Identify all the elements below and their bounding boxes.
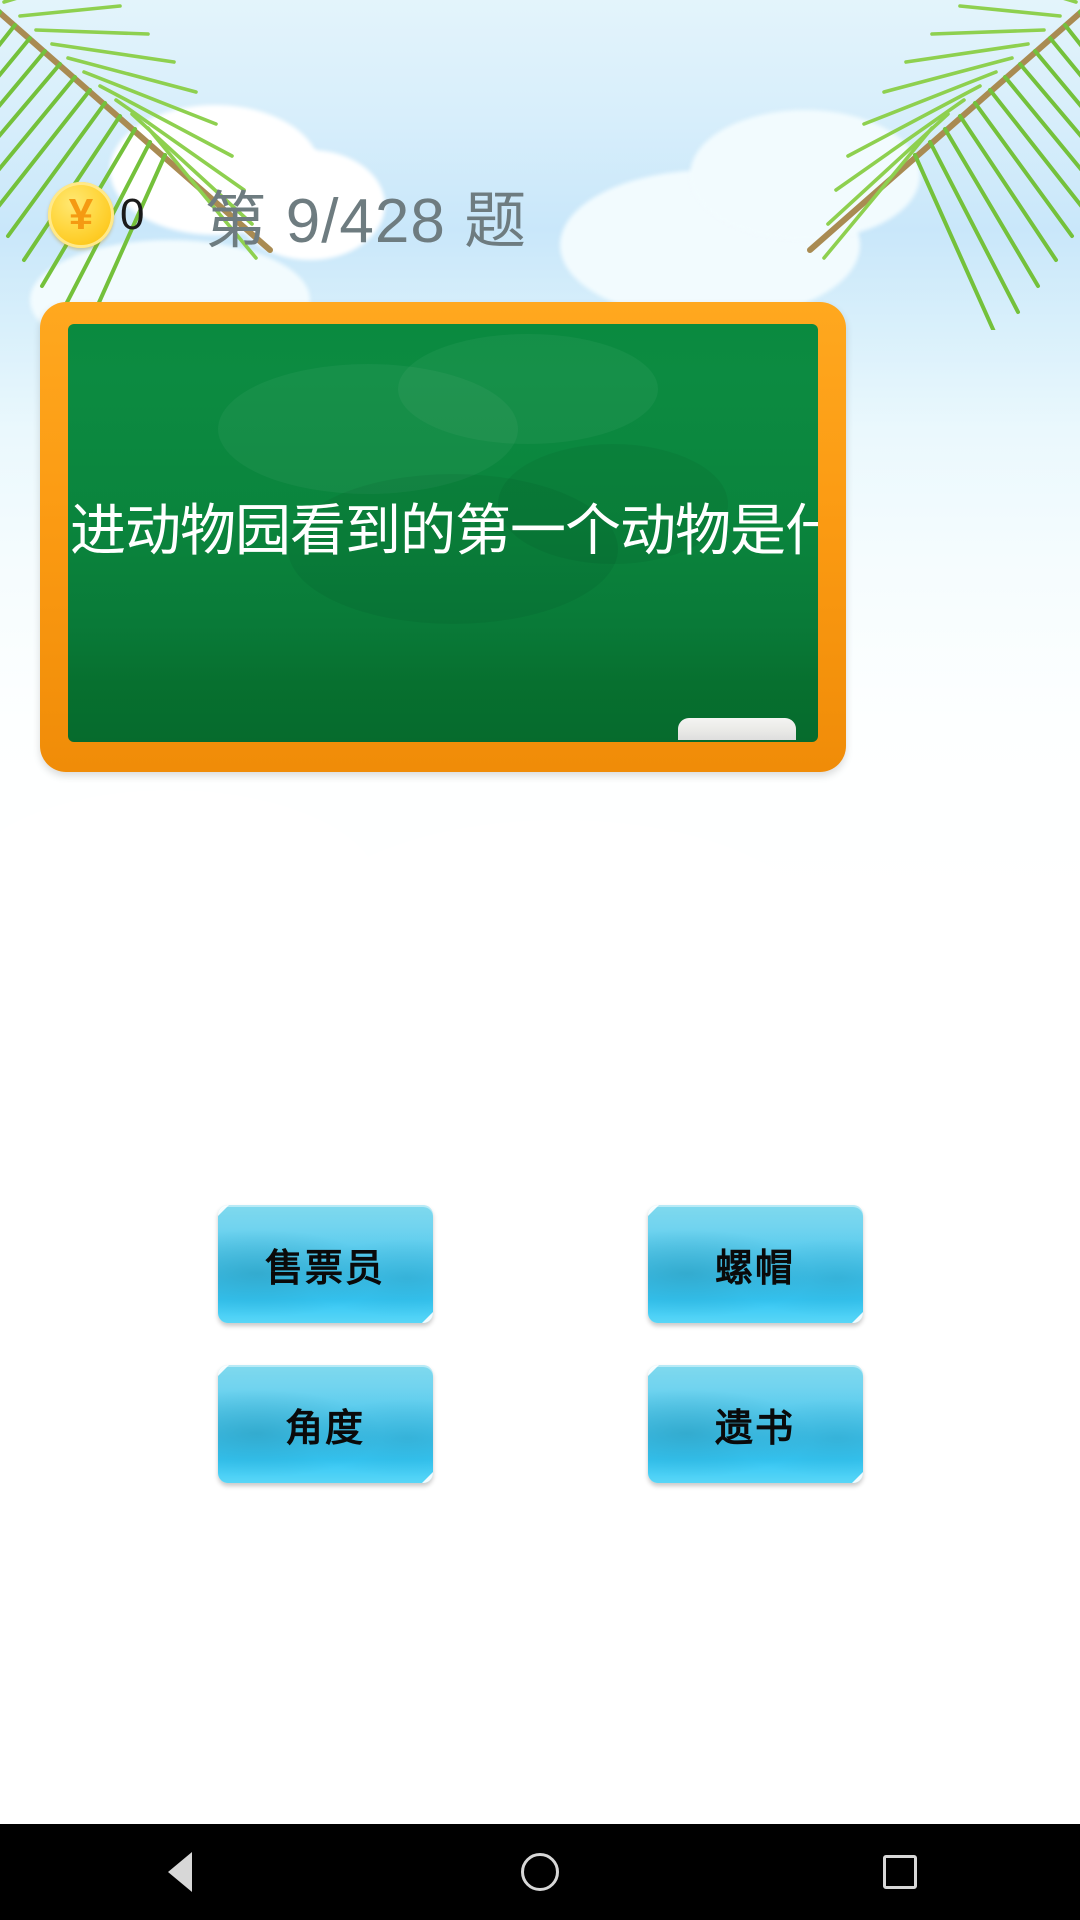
- answer-options: 售票员 螺帽 角度 遗书: [0, 1205, 1080, 1525]
- yen-coin-icon: ¥: [48, 182, 114, 248]
- answer-button-3[interactable]: 角度: [218, 1365, 433, 1483]
- question-text: 进动物园看到的第一个动物是什么？: [68, 498, 818, 565]
- nav-back-button[interactable]: [120, 1824, 240, 1920]
- answer-label: 角度: [285, 1397, 365, 1452]
- answer-row: 售票员 螺帽: [0, 1205, 1080, 1323]
- answer-label: 螺帽: [715, 1237, 795, 1292]
- android-navigation-bar: [0, 1824, 1080, 1920]
- back-triangle-icon: [168, 1852, 192, 1892]
- chalk-stick-icon: [678, 718, 796, 740]
- recents-square-icon: [883, 1855, 917, 1889]
- header-bar: ¥ 0 第 9/428 题: [0, 160, 1080, 270]
- answer-label: 遗书: [715, 1397, 795, 1452]
- blackboard-frame: 进动物园看到的第一个动物是什么？: [40, 302, 846, 772]
- answer-label: 售票员: [265, 1237, 385, 1292]
- blackboard: 进动物园看到的第一个动物是什么？: [68, 324, 818, 742]
- answer-row: 角度 遗书: [0, 1365, 1080, 1483]
- game-screen: ¥ 0 第 9/428 题 进动物园看到的第一个动物是什么？ 售票员 螺帽 角度: [0, 0, 1080, 1920]
- answer-button-4[interactable]: 遗书: [648, 1365, 863, 1483]
- coin-count-label: 0: [120, 190, 144, 240]
- answer-button-1[interactable]: 售票员: [218, 1205, 433, 1323]
- nav-recents-button[interactable]: [840, 1824, 960, 1920]
- board-decor: [398, 334, 658, 444]
- home-circle-icon: [521, 1853, 559, 1891]
- nav-home-button[interactable]: [480, 1824, 600, 1920]
- coin-counter[interactable]: ¥ 0: [48, 182, 144, 248]
- question-counter: 第 9/428 题: [204, 170, 527, 260]
- answer-button-2[interactable]: 螺帽: [648, 1205, 863, 1323]
